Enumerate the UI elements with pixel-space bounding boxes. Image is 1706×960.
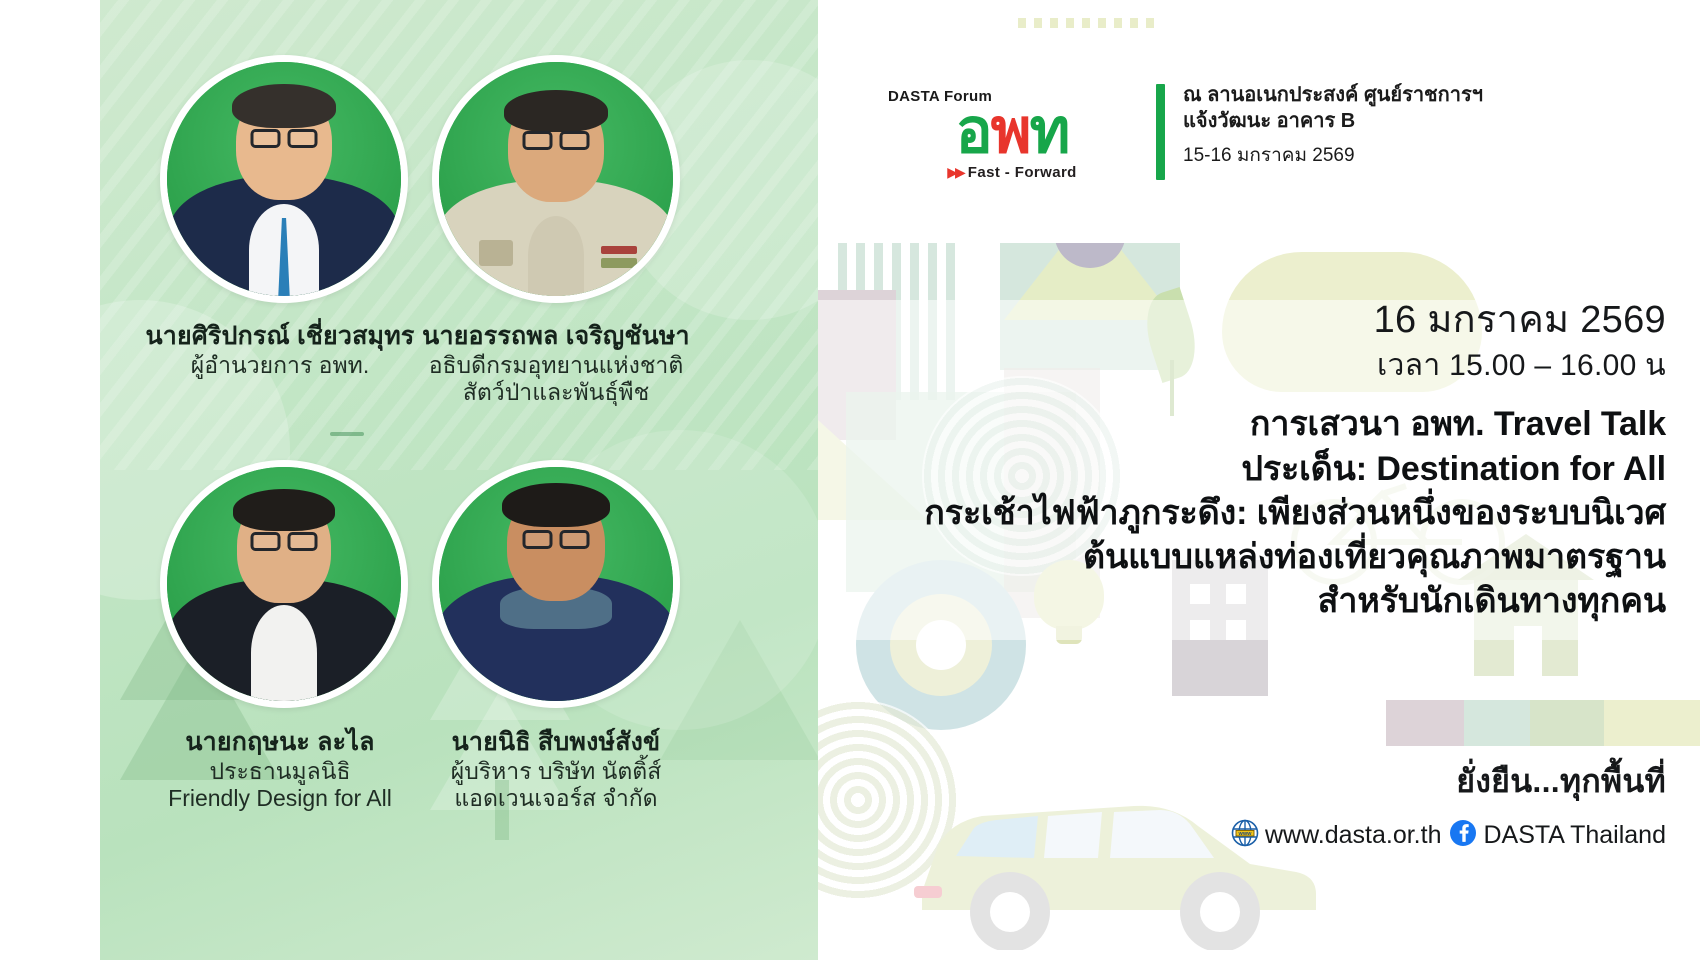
bg-palette-4 <box>1604 700 1700 746</box>
portrait-1 <box>167 62 401 296</box>
speaker-name-block-4: นายนิธิ สืบพงษ์สังข์ ผู้บริหาร บริษัท นั… <box>356 728 756 812</box>
facebook-link[interactable]: DASTA Thailand <box>1449 819 1666 852</box>
venue-line-2: แจ้งวัฒนะ อาคาร B <box>1183 108 1483 134</box>
facebook-page: DASTA Thailand <box>1483 821 1666 850</box>
logo-char-1: อ <box>956 97 991 166</box>
speaker-photo-2 <box>432 55 680 303</box>
bg-palette-2 <box>1464 700 1530 746</box>
event-title-line-5: สำหรับนักเดินทางทุกคน <box>846 579 1666 623</box>
website-link[interactable]: WWW www.dasta.or.th <box>1231 819 1441 852</box>
speaker-photo-4 <box>432 460 680 708</box>
speaker-name-2: นายอรรถพล เจริญชันษา <box>356 322 756 352</box>
portrait-2 <box>439 62 673 296</box>
event-title-line-4: ต้นแบบแหล่งท่องเที่ยวคุณภาพมาตรฐาน <box>846 535 1666 579</box>
photo-inner-3 <box>167 467 401 701</box>
event-panel: DASTA Forum อพท ▶▶ Fast - Forward ณ ลานอ… <box>818 0 1706 960</box>
bg-palette-1 <box>1386 700 1464 746</box>
footer: ยั่งยืน...ทุกพื้นที่ WWW www.dasta.or.th <box>1231 756 1666 852</box>
header: DASTA Forum อพท ▶▶ Fast - Forward ณ ลานอ… <box>878 78 1483 181</box>
speaker-title-4-line-1: ผู้บริหาร บริษัท นัตติ้ส์ <box>356 758 756 785</box>
venue-date-range: 15-16 มกราคม 2569 <box>1183 140 1483 170</box>
decor-leaf-line <box>330 432 364 436</box>
event-date: 16 มกราคม 2569 <box>846 298 1666 343</box>
website-url: www.dasta.or.th <box>1265 821 1441 850</box>
photo-inner-4 <box>439 467 673 701</box>
portrait-3 <box>167 467 401 701</box>
photo-ring-3 <box>160 460 408 708</box>
speaker-title-2-line-2: สัตว์ป่าและพันธุ์พืช <box>356 379 756 406</box>
slogan: ยั่งยืน...ทุกพื้นที่ <box>1231 756 1666 807</box>
fast-forward-arrows-icon: ▶▶ <box>947 164 963 181</box>
photo-ring-4 <box>432 460 680 708</box>
facebook-icon <box>1449 819 1477 852</box>
logo-char-2: พ <box>991 97 1030 166</box>
svg-text:WWW: WWW <box>1238 831 1252 836</box>
speaker-title-2-line-1: อธิบดีกรมอุทยานแห่งชาติ <box>356 352 756 379</box>
speaker-name-block-2: นายอรรถพล เจริญชันษา อธิบดีกรมอุทยานแห่ง… <box>356 322 756 406</box>
portrait-4 <box>439 467 673 701</box>
logo-tagline: Fast - Forward <box>968 164 1077 181</box>
speaker-photo-1 <box>160 55 408 303</box>
dasta-logo: DASTA Forum อพท ▶▶ Fast - Forward <box>878 78 1146 181</box>
header-divider <box>1156 84 1165 180</box>
globe-icon: WWW <box>1231 819 1259 852</box>
event-details: 16 มกราคม 2569 เวลา 15.00 – 16.00 น การเ… <box>846 298 1666 623</box>
bg-arc-rings-2 <box>818 700 958 900</box>
speaker-title-4-line-2: แอดเวนเจอร์ส จำกัด <box>356 785 756 812</box>
speaker-photo-3 <box>160 460 408 708</box>
event-title-line-1: การเสวนา อพท. Travel Talk <box>846 402 1666 446</box>
speakers-panel: นายศิริปกรณ์ เชี่ยวสมุทร ผู้อำนวยการ อพท… <box>100 0 818 960</box>
event-title-line-2: ประเด็น: Destination for All <box>846 447 1666 491</box>
event-title: การเสวนา อพท. Travel Talk ประเด็น: Desti… <box>846 402 1666 623</box>
speaker-name-4: นายนิธิ สืบพงษ์สังข์ <box>356 728 756 758</box>
venue-line-1: ณ ลานอเนกประสงค์ ศูนย์ราชการฯ <box>1183 82 1483 108</box>
logo-tagline-row: ▶▶ Fast - Forward <box>947 164 1077 181</box>
logo-char-3: ท <box>1030 97 1069 166</box>
venue-info: ณ ลานอเนกประสงค์ ศูนย์ราชการฯ แจ้งวัฒนะ … <box>1183 78 1483 170</box>
photo-ring-1 <box>160 55 408 303</box>
event-title-line-3: กระเช้าไฟฟ้าภูกระดึง: เพียงส่วนหนึ่งของร… <box>846 491 1666 535</box>
bg-palette-3 <box>1530 700 1604 746</box>
photo-inner-2 <box>439 62 673 296</box>
links-row: WWW www.dasta.or.th DASTA Thailand <box>1231 819 1666 852</box>
poster-root: นายศิริปกรณ์ เชี่ยวสมุทร ผู้อำนวยการ อพท… <box>0 0 1706 960</box>
event-time: เวลา 15.00 – 16.00 น <box>846 347 1666 385</box>
photo-inner-1 <box>167 62 401 296</box>
logo-wordmark: อพท <box>956 103 1069 162</box>
photo-ring-2 <box>432 55 680 303</box>
